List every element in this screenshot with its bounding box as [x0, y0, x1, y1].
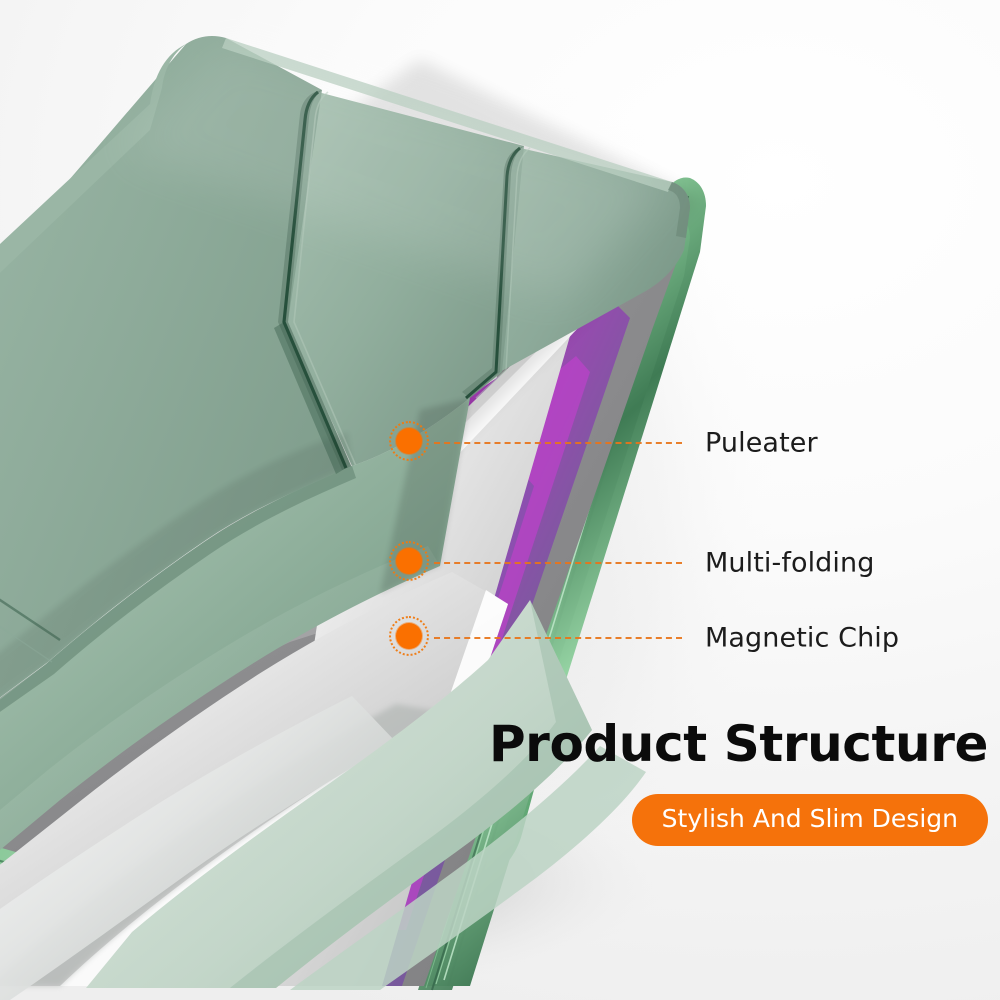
- leader-line: [434, 442, 682, 444]
- callout-label-puleater: Puleater: [705, 428, 818, 459]
- callout-label-magnetic-chip: Magnetic Chip: [705, 623, 899, 654]
- headline-block: Product Structure Stylish And Slim Desig…: [489, 718, 988, 846]
- dot-core-icon: [396, 428, 422, 454]
- callout-label-multi-folding: Multi-folding: [705, 548, 874, 579]
- dot-core-icon: [396, 623, 422, 649]
- product-structure-infographic: Puleater Multi-folding Magnetic Chip Pro…: [0, 0, 1000, 1000]
- page-title: Product Structure: [489, 718, 988, 770]
- dot-core-icon: [396, 548, 422, 574]
- leader-line: [434, 637, 682, 639]
- status-badge: Stylish And Slim Design: [632, 794, 988, 846]
- orange-dot-marker[interactable]: [389, 616, 433, 660]
- orange-dot-marker[interactable]: [389, 421, 433, 465]
- product-image: [0, 0, 1000, 1000]
- tablet-case-illustration: [0, 0, 1000, 1000]
- leader-line: [434, 562, 682, 564]
- orange-dot-marker[interactable]: [389, 541, 433, 585]
